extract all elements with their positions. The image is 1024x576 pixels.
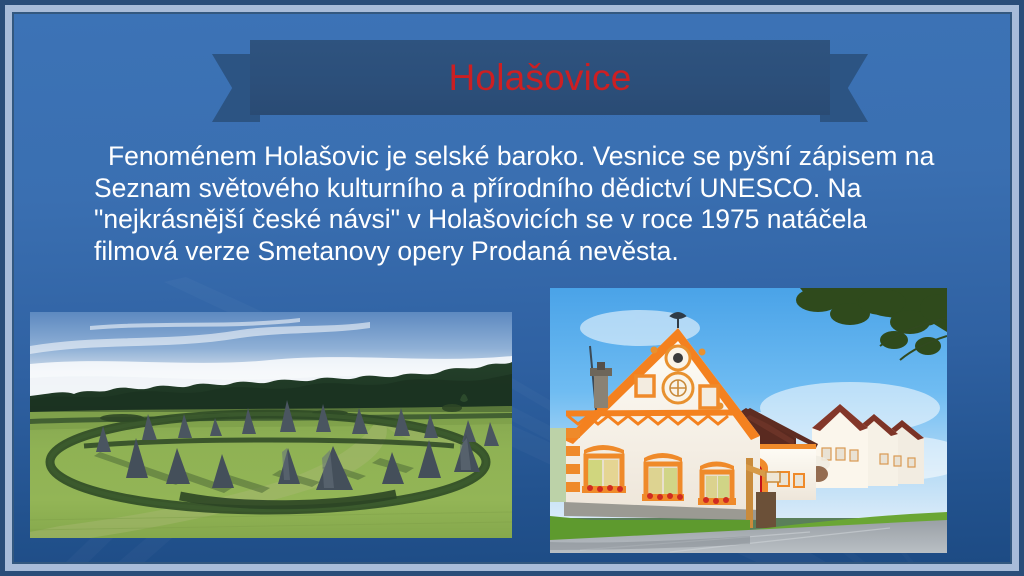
slide-canvas: Holašovice Fenoménem Holašovic je selské… xyxy=(14,14,1010,562)
page-title: Holašovice xyxy=(250,40,830,115)
title-banner: Holašovice xyxy=(212,40,868,130)
presentation-slide: Holašovice Fenoménem Holašovic je selské… xyxy=(0,0,1024,576)
slide-body-text: Fenoménem Holašovic je selské baroko. Ve… xyxy=(94,141,956,267)
stone-circle-photo xyxy=(30,312,512,538)
holasovice-village-photo xyxy=(550,288,947,553)
